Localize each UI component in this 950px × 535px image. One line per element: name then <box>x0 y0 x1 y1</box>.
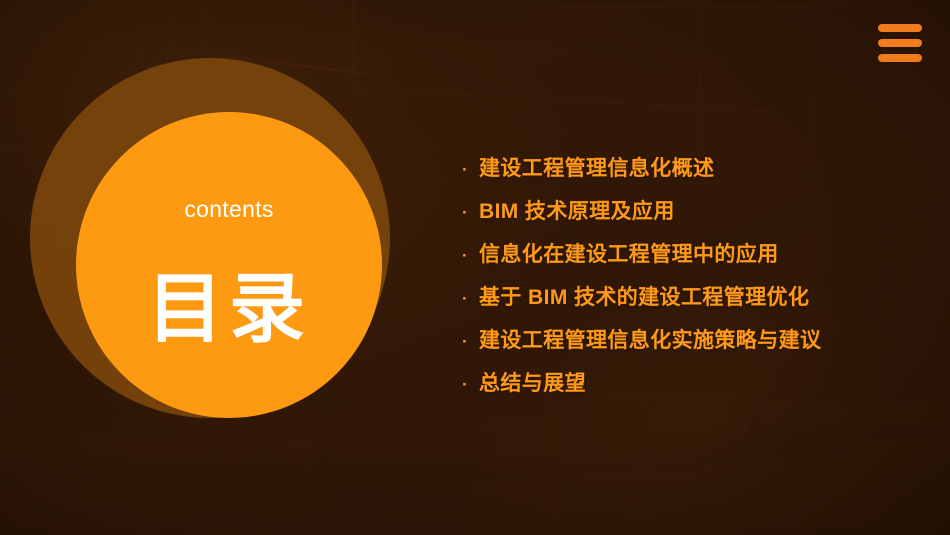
toc-item-4[interactable]: · 基于 BIM 技术的建设工程管理优化 <box>462 281 932 324</box>
toc-item-1[interactable]: · 建设工程管理信息化概述 <box>462 152 932 195</box>
toc-item-label: 信息化在建设工程管理中的应用 <box>479 238 779 268</box>
toc-item-label: 建设工程管理信息化概述 <box>479 152 714 182</box>
hamburger-bar-middle <box>878 39 922 47</box>
bullet-icon: · <box>462 161 479 178</box>
toc-item-3[interactable]: · 信息化在建设工程管理中的应用 <box>462 238 932 281</box>
contents-subtitle: contents <box>76 196 382 223</box>
hamburger-menu-icon[interactable] <box>878 24 922 62</box>
presentation-slide: contents 目录 · 建设工程管理信息化概述 · BIM 技术原理及应用 … <box>0 0 950 535</box>
bullet-icon: · <box>462 333 479 350</box>
table-of-contents: · 建设工程管理信息化概述 · BIM 技术原理及应用 · 信息化在建设工程管理… <box>462 152 932 410</box>
toc-item-label: BIM 技术原理及应用 <box>479 195 675 225</box>
contents-circle: contents 目录 <box>76 112 382 418</box>
hamburger-bar-bottom <box>878 54 922 62</box>
toc-item-label: 总结与展望 <box>479 367 586 397</box>
toc-item-6[interactable]: · 总结与展望 <box>462 367 932 410</box>
toc-item-label: 建设工程管理信息化实施策略与建议 <box>479 324 821 354</box>
bullet-icon: · <box>462 290 479 307</box>
toc-item-2[interactable]: · BIM 技术原理及应用 <box>462 195 932 238</box>
toc-item-5[interactable]: · 建设工程管理信息化实施策略与建议 <box>462 324 932 367</box>
toc-item-label: 基于 BIM 技术的建设工程管理优化 <box>479 281 809 311</box>
bullet-icon: · <box>462 204 479 221</box>
bullet-icon: · <box>462 247 479 264</box>
page-title: 目录 <box>76 272 382 348</box>
hamburger-bar-top <box>878 24 922 32</box>
bullet-icon: · <box>462 376 479 393</box>
